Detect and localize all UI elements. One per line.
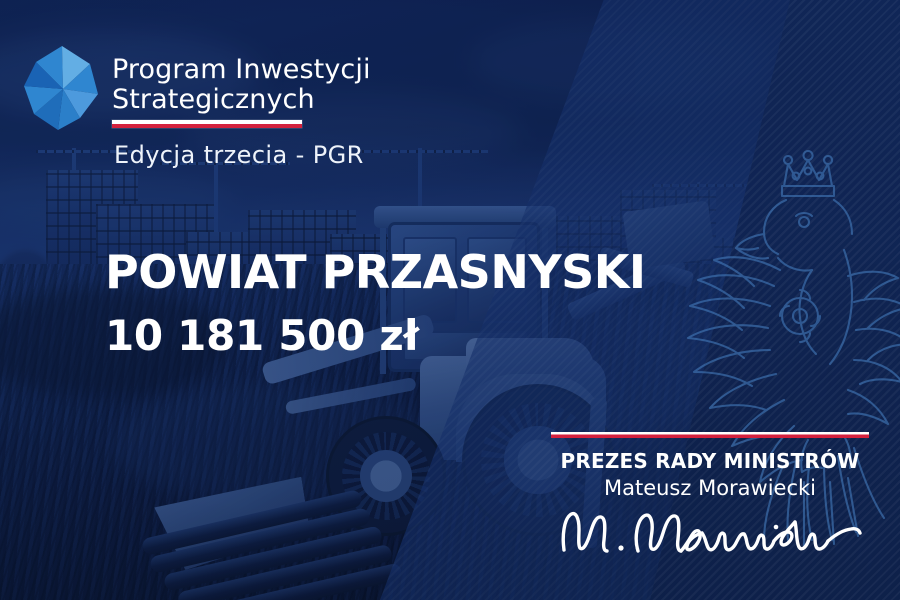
signature-text: M. Morawiecki [870,502,871,503]
flag-underline [112,120,302,128]
signature-role: PREZES RADY MINISTRÓW [545,449,875,473]
signature-block: PREZES RADY MINISTRÓW Mateusz Morawiecki… [545,432,875,564]
program-title-line2: Strategicznych [112,85,432,115]
program-title: Program Inwestycji Strategicznych [112,55,432,128]
signature-flag-rule [551,432,869,438]
program-title-line1: Program Inwestycji [112,55,432,85]
headline-block: POWIAT PRZASNYSKI 10 181 500 zł [105,246,646,360]
program-logo-icon [18,42,104,134]
handwritten-signature-icon: M. Morawiecki [545,502,875,564]
signature-name: Mateusz Morawiecki [545,476,875,500]
funding-amount: 10 181 500 zł [105,312,646,360]
beneficiary-name: POWIAT PRZASNYSKI [105,246,646,298]
edition-label: Edycja trzecia - PGR [114,141,364,169]
poster-canvas: Program Inwestycji Strategicznych Edycja… [0,0,900,600]
